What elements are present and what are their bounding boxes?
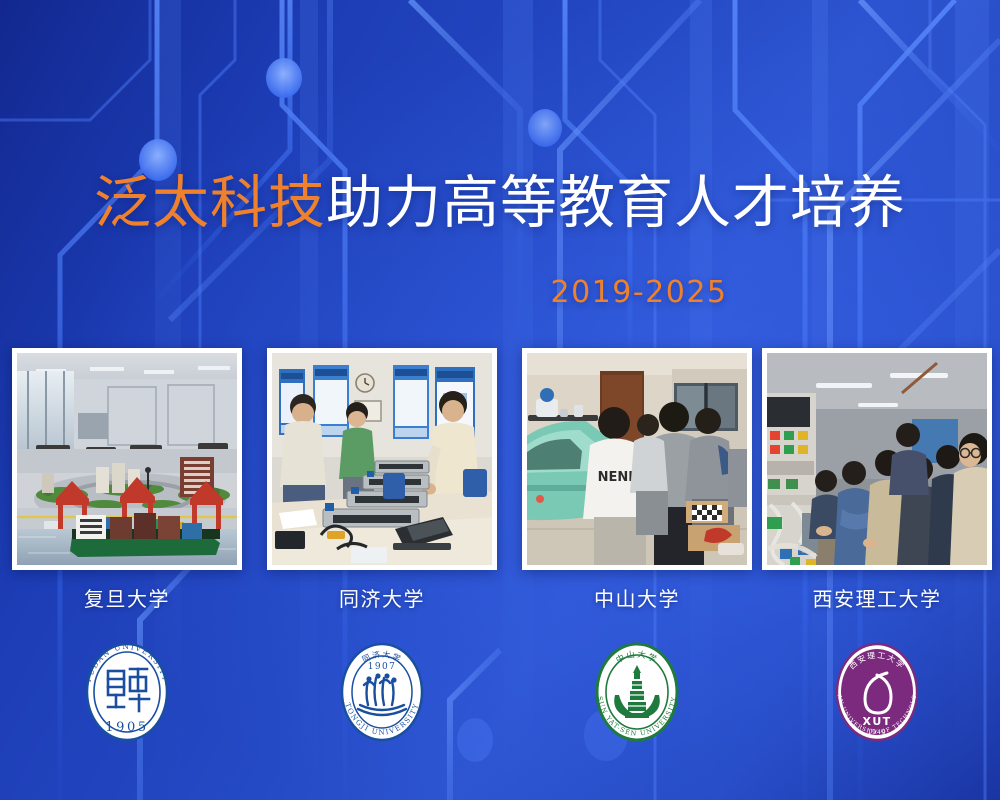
university-caption: 复旦大学 (12, 583, 242, 612)
fudan-university-logo: FUDAN UNIVERSITY 1905 (75, 633, 179, 751)
photo-card[interactable] (762, 348, 992, 570)
checkerboard (692, 505, 722, 521)
tablet (275, 531, 305, 549)
photo-lab-bench-equipment (272, 353, 492, 565)
photo-card[interactable] (267, 348, 497, 570)
industrial-equipment (767, 393, 818, 565)
logo-slot[interactable]: 同济大学 TONGJI UNIVERSITY 1907 (267, 632, 497, 752)
chair (383, 473, 405, 499)
sun-yat-sen-university-logo: 中山大学 SUN YAT-SEN UNIVERSITY (585, 633, 689, 751)
logo-slot[interactable]: 中山大学 SUN YAT-SEN UNIVERSITY (522, 632, 752, 752)
xut-abbr: XUT (862, 715, 891, 728)
logo-slot[interactable]: 西安理工大学 XI'AN UNIVERSITY OF TECHNOLOGY XU… (762, 632, 992, 752)
photo-row: NENR (0, 348, 1000, 570)
photo-autonomous-vehicle: NENR (527, 353, 747, 565)
tongji-university-logo: 同济大学 TONGJI UNIVERSITY 1907 (330, 633, 434, 751)
page-title: 泛太科技助力高等教育人才培养 (0, 170, 1000, 237)
caption-row: 复旦大学 同济大学 中山大学 西安理工大学 (0, 583, 1000, 613)
fudan-year: 1905 (105, 720, 148, 735)
university-caption: 中山大学 (522, 583, 752, 612)
photo-smart-city-port-model (17, 353, 237, 565)
logo-row: FUDAN UNIVERSITY 1905 (0, 632, 1000, 752)
phone (351, 547, 387, 563)
title-block: 泛太科技助力高等教育人才培养 (0, 170, 1000, 237)
title-highlight: 泛太科技 (94, 170, 326, 236)
subtitle-year-range: 2019-2025 (0, 275, 1000, 310)
chair (463, 469, 487, 497)
gnss-antenna (574, 405, 583, 417)
photo-students-observing-equipment (767, 353, 987, 565)
university-caption: 西安理工大学 (762, 583, 992, 612)
tongji-year: 1907 (368, 662, 397, 672)
title-rest: 助力高等教育人才培养 (326, 170, 906, 236)
poster-stage: 泛太科技助力高等教育人才培养 2019-2025 (0, 0, 1000, 800)
xut-year: 1949 (867, 729, 886, 736)
xian-university-of-technology-logo: 西安理工大学 XI'AN UNIVERSITY OF TECHNOLOGY XU… (825, 633, 929, 751)
photo-card[interactable]: NENR (522, 348, 752, 570)
photo-card[interactable] (12, 348, 242, 570)
equipment (728, 449, 747, 507)
university-caption: 同济大学 (267, 583, 497, 612)
logo-slot[interactable]: FUDAN UNIVERSITY 1905 (12, 632, 242, 752)
